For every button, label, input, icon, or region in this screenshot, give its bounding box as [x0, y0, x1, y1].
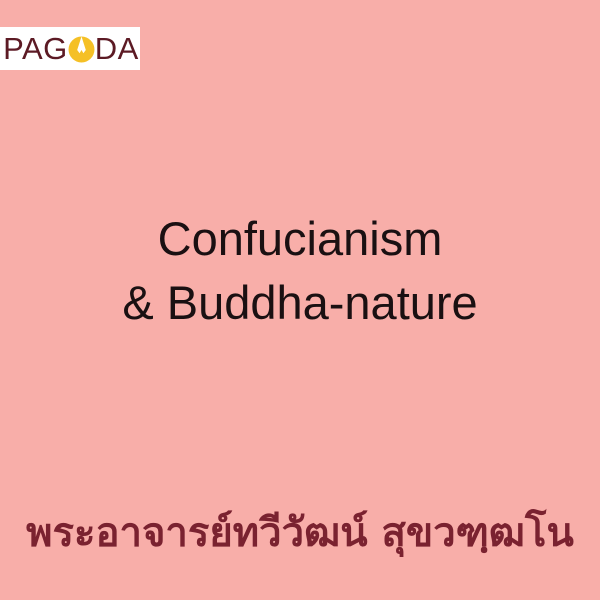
author-credit: พระอาจารย์ทวีวัฒน์ สุขวฑฺฒโน [0, 505, 600, 561]
cover-card: PAG DA Confucianism & Buddha-nature [0, 0, 600, 600]
pagoda-wordmark: PAG DA [1, 33, 139, 64]
title-line-1: Confucianism [0, 207, 600, 271]
page-title: Confucianism & Buddha-nature [0, 207, 600, 335]
pagoda-lotus-icon [68, 36, 95, 63]
title-line-2: & Buddha-nature [0, 271, 600, 335]
pagoda-wordmark-prefix: PAG [3, 33, 68, 64]
pagoda-logo-badge[interactable]: PAG DA [0, 27, 140, 70]
author-name-thai: พระอาจารย์ทวีวัฒน์ สุขวฑฺฒโน [0, 505, 600, 561]
pagoda-wordmark-suffix: DA [95, 33, 139, 64]
